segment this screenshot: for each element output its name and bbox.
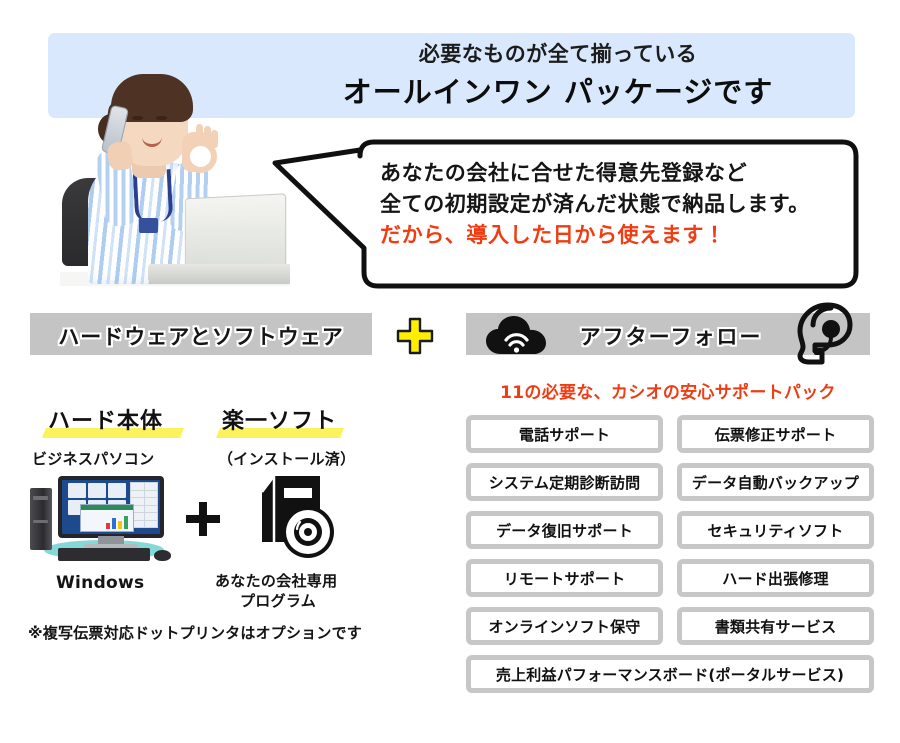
support-box[interactable]: ハード出張修理 xyxy=(677,559,874,597)
after-follow-bar: アフターフォロー xyxy=(466,313,870,355)
hardware-subtitle: ビジネスパソコン xyxy=(32,448,154,469)
support-row-3: データ復旧サポート セキュリティソフト xyxy=(466,511,874,549)
pc-tower-bay-2 xyxy=(33,520,48,523)
banner-title: オールインワン パッケージです xyxy=(268,69,848,111)
eye-left xyxy=(132,116,143,120)
page-root: 必要なものが全て揃っている オールインワン パッケージです xyxy=(0,0,900,743)
hardware-title: ハード本体 xyxy=(48,403,163,435)
software-box-cd-icon xyxy=(248,470,340,562)
bubble-line-2: 全ての初期設定が済んだ状態で納品します。 xyxy=(380,189,850,220)
support-row-5: オンラインソフト保守 書類共有サービス xyxy=(466,607,874,645)
footnote: ※複写伝票対応ドットプリンタはオプションです xyxy=(28,622,362,643)
speech-bubble: あなたの会社に合せた得意先登録など 全ての初期設定が済んだ状態で納品します。 だ… xyxy=(268,138,860,290)
support-row-2: システム定期診断訪問 データ自動バックアップ xyxy=(466,463,874,501)
pc-screen-side-panel xyxy=(130,482,158,528)
software-caption-line-2: プログラム xyxy=(240,590,316,611)
support-box[interactable]: セキュリティソフト xyxy=(677,511,874,549)
support-box[interactable]: システム定期診断訪問 xyxy=(466,463,663,501)
headset-operator-icon xyxy=(788,301,854,367)
desktop-pc-photo xyxy=(28,474,178,564)
eyebrow-left xyxy=(131,108,144,111)
after-follow-bar-label: アフターフォロー xyxy=(566,321,776,351)
support-boxes-grid: 電話サポート 伝票修正サポート システム定期診断訪問 データ自動バックアップ デ… xyxy=(466,415,874,703)
hand-holding-phone xyxy=(106,140,134,171)
banner-subtitle: 必要なものが全て揃っている xyxy=(268,38,848,68)
support-box[interactable]: リモートサポート xyxy=(466,559,663,597)
hardware-software-bar-label: ハードウェアとソフトウェア xyxy=(30,321,372,351)
bubble-line-1: あなたの会社に合せた得意先登録など xyxy=(380,158,850,189)
support-row-1: 電話サポート 伝票修正サポート xyxy=(466,415,874,453)
support-row-4: リモートサポート ハード出張修理 xyxy=(466,559,874,597)
support-box[interactable]: 書類共有サービス xyxy=(677,607,874,645)
support-box[interactable]: オンラインソフト保守 xyxy=(466,607,663,645)
pc-tower-bay-1 xyxy=(33,496,48,500)
support-row-6: 売上利益パフォーマンスボード(ポータルサービス) xyxy=(466,655,874,693)
windows-caption: Windows xyxy=(56,573,144,593)
software-caption-line-1: あなたの会社専用 xyxy=(215,570,337,591)
cloud-wifi-icon xyxy=(484,314,554,358)
pc-mouse xyxy=(154,550,171,561)
support-box[interactable]: 売上利益パフォーマンスボード(ポータルサービス) xyxy=(466,655,874,693)
pc-screen xyxy=(62,480,160,534)
plus-black-icon xyxy=(186,502,220,536)
hardware-software-bar: ハードウェアとソフトウェア xyxy=(30,313,372,355)
plus-icon xyxy=(396,317,434,355)
eyebrow-right xyxy=(155,108,168,111)
pc-window-titlebar xyxy=(81,505,133,510)
ok-ring xyxy=(184,140,217,173)
software-title: 楽一ソフト xyxy=(222,403,337,435)
id-badge xyxy=(139,218,158,233)
pc-screen-chart xyxy=(106,516,130,529)
support-box[interactable]: データ復旧サポート xyxy=(466,511,663,549)
woman-on-phone-photo xyxy=(60,58,290,286)
pc-monitor xyxy=(58,476,164,538)
support-subtitle: 11の必要な、カシオの安心サポートパック xyxy=(466,378,870,403)
support-box[interactable]: 伝票修正サポート xyxy=(677,415,874,453)
eye-right xyxy=(156,116,167,120)
pc-keyboard xyxy=(58,548,150,561)
software-subtitle: （インストール済） xyxy=(218,448,355,469)
bubble-line-3-accent: だから、導入した日から使えます！ xyxy=(380,220,850,251)
speech-bubble-text: あなたの会社に合せた得意先登録など 全ての初期設定が済んだ状態で納品します。 だ… xyxy=(380,158,850,251)
support-box[interactable]: 電話サポート xyxy=(466,415,663,453)
support-box[interactable]: データ自動バックアップ xyxy=(677,463,874,501)
